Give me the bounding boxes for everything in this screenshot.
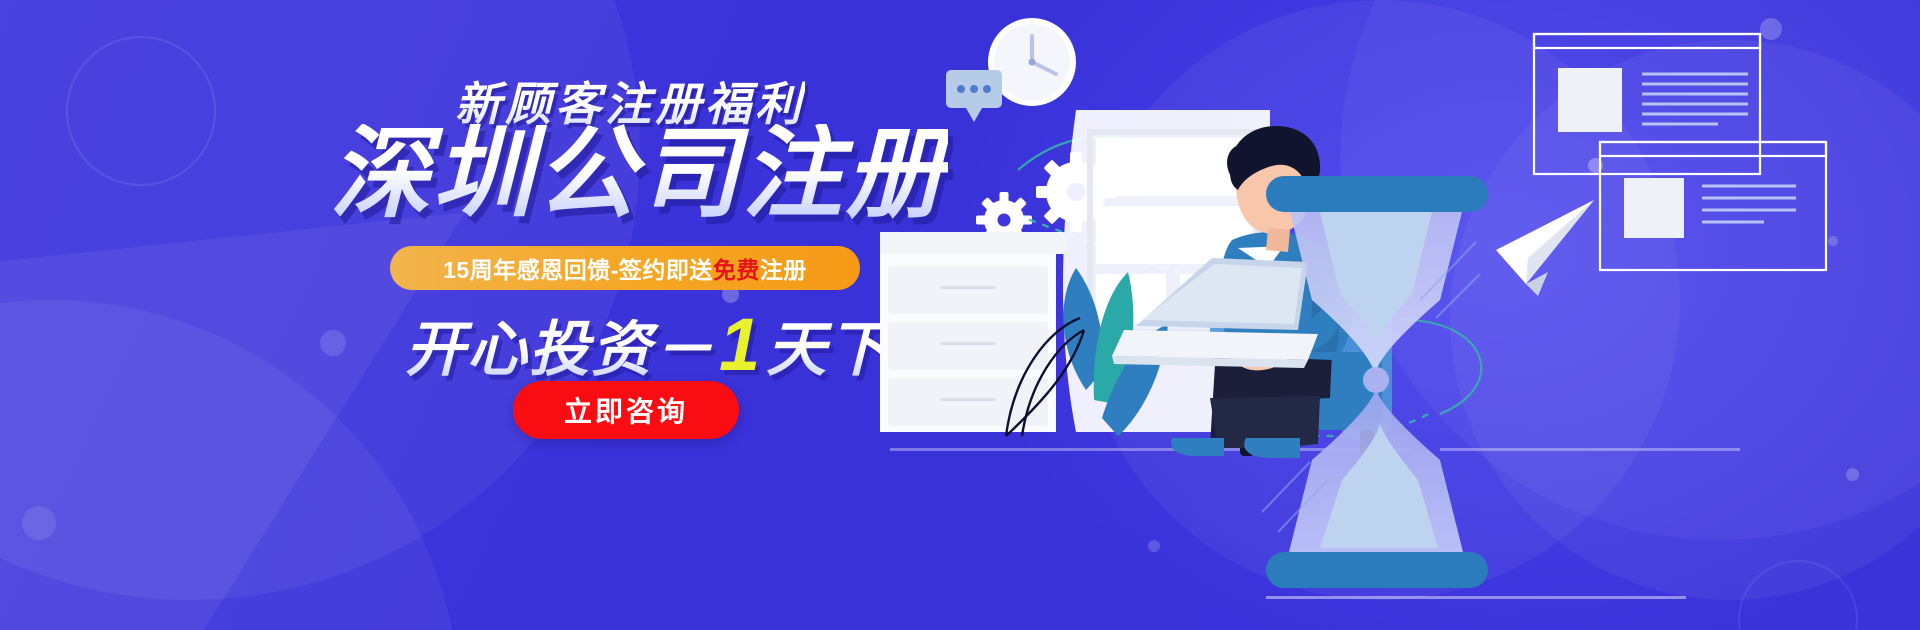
copy-block: 新顾客注册福利 深圳公司注册 15周年感恩回馈-签约即送免费注册 开心投资－1天… xyxy=(0,0,1020,630)
promo-pill-suffix: 注册 xyxy=(760,257,807,283)
floor-line-bottom xyxy=(1266,596,1686,599)
promo-pill-text: 15周年感恩回馈-签约即送免费注册 xyxy=(443,251,807,285)
promo-pill: 15周年感恩回馈-签约即送免费注册 xyxy=(390,246,860,290)
chat-bubble-icon xyxy=(946,70,1002,122)
promo-pill-highlight: 免费 xyxy=(713,257,760,283)
banner-headline: 深圳公司注册 xyxy=(330,124,948,224)
promo-pill-prefix: 15周年感恩回馈-签约即送 xyxy=(443,257,713,283)
consult-now-button[interactable]: 立即咨询 xyxy=(513,381,739,439)
subline-prefix: 开心投资－ xyxy=(405,316,715,383)
promo-banner: 新顾客注册福利 深圳公司注册 15周年感恩回馈-签约即送免费注册 开心投资－1天… xyxy=(0,0,1920,630)
floor-line-right xyxy=(1440,448,1740,451)
illustration xyxy=(880,0,1920,630)
banner-subline: 开心投资－1天下证 xyxy=(405,308,952,382)
subline-number: 1 xyxy=(715,303,766,386)
